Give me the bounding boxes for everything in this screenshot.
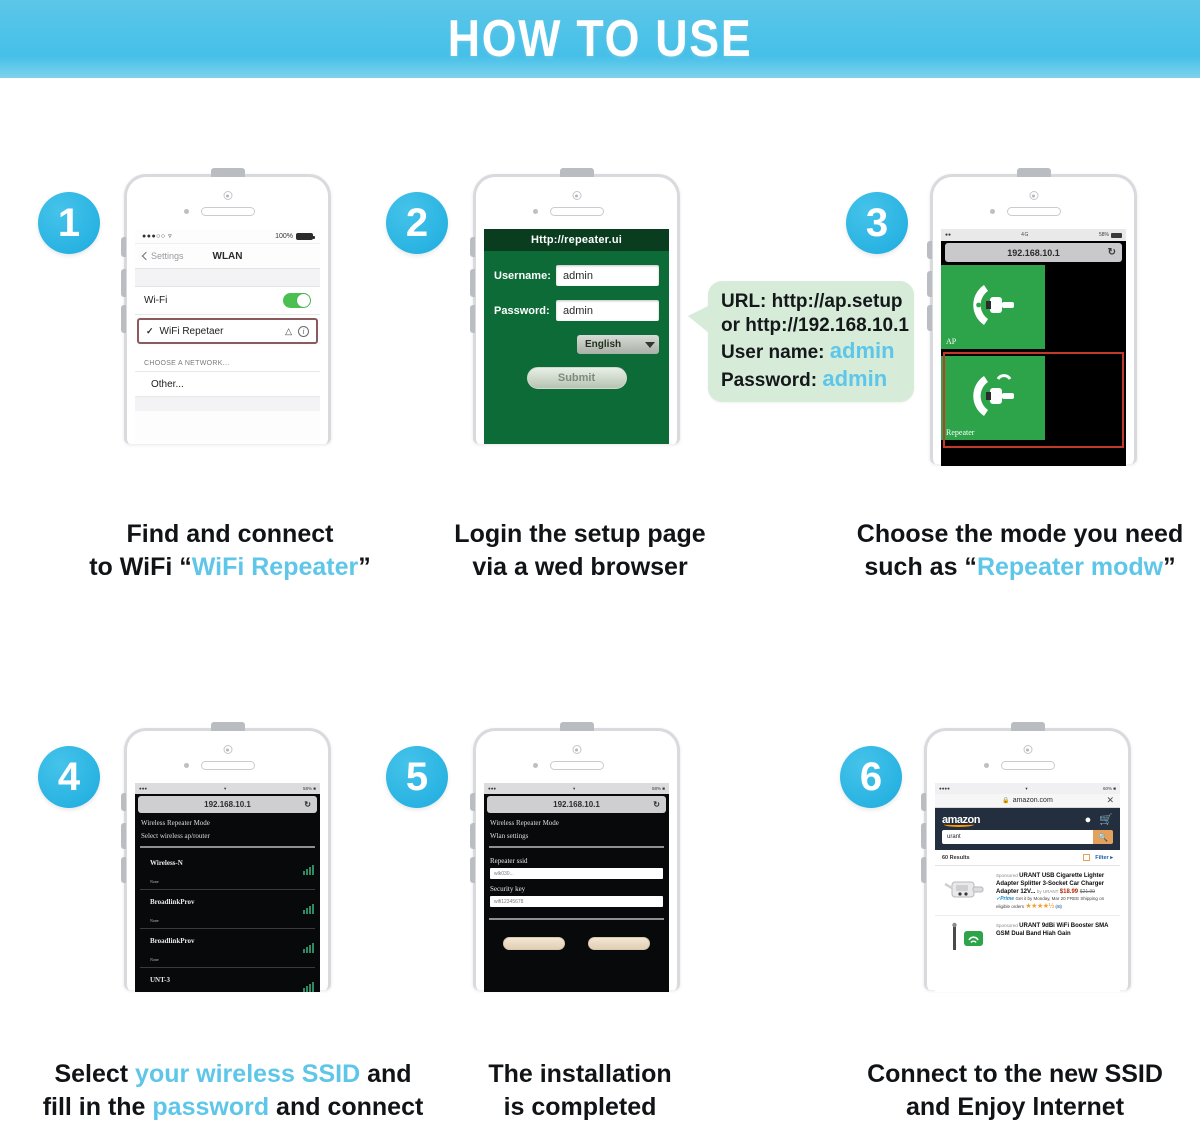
info-callout-bubble: URL: http://ap.setup or http://192.168.1… xyxy=(708,281,914,402)
caption-pre: such as “ xyxy=(864,553,977,581)
step-number-6: 6 xyxy=(860,755,882,800)
front-camera-icon xyxy=(1029,191,1038,200)
security-key-input[interactable]: wifi12345678 xyxy=(490,896,663,907)
list-footer-spacer xyxy=(135,397,320,411)
caption-pre-2: fill in the xyxy=(43,1093,153,1121)
phone-side-button xyxy=(927,241,932,259)
step-caption-4: Select your wireless SSID and fill in th… xyxy=(8,1058,458,1123)
caption-line-2: fill in the password and connect xyxy=(8,1091,458,1124)
product-list-item[interactable]: Sponsored URANT 9dBi WiFi Booster SMA GS… xyxy=(935,916,1120,957)
username-input[interactable]: admin xyxy=(556,265,659,286)
front-camera-icon xyxy=(223,745,232,754)
phone-side-button xyxy=(470,857,475,883)
callout-password-label: Password: xyxy=(721,370,822,391)
url-text: 192.168.10.1 xyxy=(553,800,600,809)
caption-post-2: and connect xyxy=(269,1093,423,1121)
browser-status-bar: ●● 4G 58% xyxy=(941,229,1126,241)
step-number-5: 5 xyxy=(406,755,428,800)
front-camera-icon xyxy=(572,745,581,754)
step-badge-1: 1 xyxy=(38,192,100,254)
other-label: Other... xyxy=(151,379,184,390)
amazon-logo[interactable]: amazon xyxy=(942,814,980,826)
step-number-2: 2 xyxy=(406,201,428,246)
network-list-item[interactable]: BroadlinkProvNone xyxy=(140,890,315,929)
phone-side-button xyxy=(121,793,126,811)
signal-dots-icon: ●●●○○ xyxy=(142,233,166,240)
cart-icon[interactable]: 🛒 xyxy=(1099,813,1113,826)
callout-password-value: admin xyxy=(822,366,887,391)
mode-label-ap: AP xyxy=(946,337,956,346)
phone-side-button xyxy=(121,305,126,333)
earpiece-speaker xyxy=(550,207,604,216)
battery-icon: 58% ■ xyxy=(652,786,665,791)
ios-status-bar: ●●●○○ ▿ 100% xyxy=(135,229,320,244)
phone-earpiece-area xyxy=(127,731,328,783)
username-label: Username: xyxy=(494,270,556,282)
step-caption-6: Connect to the new SSID and Enjoy lntern… xyxy=(830,1058,1200,1123)
product-thumbnail xyxy=(942,922,990,952)
security-key-label: Security key xyxy=(484,879,669,896)
list-spacer xyxy=(135,269,320,287)
sponsored-label: Sponsored xyxy=(996,923,1018,928)
page-heading: Wireless Repeater Mode xyxy=(135,815,320,829)
lock-icon: 🔒 xyxy=(1002,797,1009,804)
callout-username: User name: admin xyxy=(721,337,901,365)
network-security: None xyxy=(150,957,159,962)
browser-url-bar[interactable]: 192.168.10.1 ↻ xyxy=(138,796,317,813)
phone-mockup-6: ●●●● ▾ 60% ■ 🔒 amazon.com ✕ amazon ● 🛒 xyxy=(924,728,1131,990)
battery-icon xyxy=(296,233,313,240)
caption-line-1: Choose the mode you need xyxy=(840,518,1200,551)
login-form: Username: admin Password: admin English xyxy=(484,251,669,397)
phone-screen-4: ●●● ▾ 58% ■ 192.168.10.1 ↻ Wireless Repe… xyxy=(135,783,320,992)
ap-antenna-icon xyxy=(964,279,1022,331)
username-row: Username: admin xyxy=(494,265,659,286)
phone-side-button xyxy=(121,823,126,849)
product-list-item[interactable]: Sponsored URANT USB Cigarette Lighter Ad… xyxy=(935,866,1120,916)
step-number-1: 1 xyxy=(58,201,80,246)
delivery-estimate: Get it by Monday, Mar 20 xyxy=(1015,896,1065,901)
phone-side-button xyxy=(921,793,926,811)
password-input[interactable]: admin xyxy=(556,300,659,321)
carrier-dots-icon: ●● xyxy=(945,232,951,238)
callout-username-label: User name: xyxy=(721,342,830,363)
caption-line-2: such as “Repeater modw” xyxy=(840,551,1200,584)
price-current: $18.99 xyxy=(1060,889,1078,895)
callout-password: Password: admin xyxy=(721,365,901,393)
mode-highlight-box xyxy=(943,352,1124,448)
step-badge-2: 2 xyxy=(386,192,448,254)
phone-earpiece-area xyxy=(927,731,1128,783)
divider xyxy=(140,846,315,848)
page-heading: Wireless Repeater Mode xyxy=(484,815,669,829)
phone-side-button xyxy=(470,269,475,297)
sensor-dot-icon xyxy=(184,763,189,768)
caption-line-1: Find and connect xyxy=(20,518,440,551)
network-ssid-label: WiFi Repetaer xyxy=(160,326,224,337)
price-old: $21.99 xyxy=(1080,889,1095,895)
repeater-ssid-input[interactable]: wlk030... xyxy=(490,868,663,879)
phone-nub xyxy=(1011,722,1045,731)
step-number-4: 4 xyxy=(58,755,80,800)
product-title-line2: GSM Dual Band Hiah Gain xyxy=(996,931,1071,937)
step-caption-2: Login the setup page via a wed browser xyxy=(420,518,740,583)
phone-earpiece-area xyxy=(933,177,1134,229)
earpiece-speaker xyxy=(201,207,255,216)
browser-url-bar[interactable]: 🔒 amazon.com ✕ xyxy=(935,794,1120,808)
caption-line-1: Connect to the new SSID xyxy=(830,1058,1200,1091)
earpiece-speaker xyxy=(1001,761,1055,770)
step-number-3: 3 xyxy=(866,201,888,246)
network-type-label: ▾ xyxy=(573,786,575,792)
ios-nav-bar: Settings WLAN xyxy=(135,244,320,269)
caption-pre: to WiFi “ xyxy=(89,553,192,581)
rating-stars: ★★★★½ (46) xyxy=(1025,903,1061,910)
caption-line-1: The installation xyxy=(440,1058,720,1091)
step-badge-4: 4 xyxy=(38,746,100,808)
earpiece-speaker xyxy=(201,761,255,770)
caption-line-2: via a wed browser xyxy=(420,551,740,584)
battery-icon xyxy=(1111,233,1122,238)
network-item-selected[interactable]: ✓ WiFi Repetaer △ i xyxy=(137,318,318,344)
wifi-toggle-switch[interactable] xyxy=(283,293,311,308)
phone-screen-6: ●●●● ▾ 60% ■ 🔒 amazon.com ✕ amazon ● 🛒 xyxy=(935,783,1120,992)
cancel-button[interactable] xyxy=(588,937,650,950)
sponsored-label: Sponsored xyxy=(996,873,1018,878)
network-list-item[interactable]: BroadlinkProvNone xyxy=(140,929,315,968)
browser-url-bar[interactable]: 192.168.10.1 ↻ xyxy=(487,796,666,813)
page-title: HOW TO USE xyxy=(448,9,753,69)
network-ssid: BroadlinkProv xyxy=(150,898,194,906)
sensor-dot-icon xyxy=(533,209,538,214)
phone-side-button xyxy=(470,237,475,257)
step-badge-5: 5 xyxy=(386,746,448,808)
repeater-network-list-page: ●●● ▾ 58% ■ 192.168.10.1 ↻ Wireless Repe… xyxy=(135,783,320,992)
sensor-dot-icon xyxy=(990,209,995,214)
network-security: None xyxy=(150,918,159,923)
caption-line-2: is completed xyxy=(440,1091,720,1124)
signal-bars-icon xyxy=(303,865,315,875)
repeater-login-page: Http://repeater.ui Username: admin Passw… xyxy=(484,229,669,444)
phone-side-button xyxy=(121,269,126,297)
signal-bars-icon xyxy=(303,943,315,953)
page-header: HOW TO USE xyxy=(0,0,1200,78)
signal-bars-icon xyxy=(303,904,315,914)
front-camera-icon xyxy=(572,191,581,200)
network-list-item[interactable]: UNT-3WPA-PSK/WPA2-PSK xyxy=(140,968,315,992)
front-camera-icon xyxy=(1023,745,1032,754)
caption-highlight-2: password xyxy=(152,1093,269,1121)
network-type-label: ▾ xyxy=(224,786,226,792)
phone-screen-3: ●● 4G 58% 192.168.10.1 ↻ xyxy=(941,229,1126,466)
caption-highlight: Repeater modw xyxy=(977,553,1163,581)
network-security: None xyxy=(150,879,159,884)
review-count[interactable]: (46) xyxy=(1055,904,1061,909)
step-badge-3: 3 xyxy=(846,192,908,254)
network-list-item[interactable]: Wireless-NNone xyxy=(140,851,315,890)
product-thumbnail xyxy=(942,872,990,910)
phone-side-button xyxy=(121,237,126,257)
page-subheading: Select wireless ap/router xyxy=(135,829,320,844)
results-count: 60 Results xyxy=(942,855,970,861)
repeater-wlan-settings-page: ●●● ▾ 58% ■ 192.168.10.1 ↻ Wireless Repe… xyxy=(484,783,669,992)
results-bar: 60 Results Filter ▸ xyxy=(935,850,1120,866)
earpiece-speaker xyxy=(550,761,604,770)
phone-screen-1: ●●●○○ ▿ 100% Settings WLAN Wi-Fi xyxy=(135,229,320,444)
phone-mockup-4: ●●● ▾ 58% ■ 192.168.10.1 ↻ Wireless Repe… xyxy=(124,728,331,990)
stars-glyphs: ★★★★½ xyxy=(1025,903,1053,910)
filter-button[interactable]: Filter ▸ xyxy=(1095,855,1113,861)
browser-mode-select: ●● 4G 58% 192.168.10.1 ↻ xyxy=(941,229,1126,466)
phone-mockup-5: ●●● ▾ 58% ■ 192.168.10.1 ↻ Wireless Repe… xyxy=(473,728,680,990)
sensor-dot-icon xyxy=(533,763,538,768)
close-icon[interactable]: ✕ xyxy=(1106,795,1114,806)
wifi-row-label: Wi-Fi xyxy=(144,295,167,306)
account-icon[interactable]: ● xyxy=(1085,814,1092,826)
front-camera-icon xyxy=(223,191,232,200)
amazon-search-row: urant 🔍 xyxy=(935,830,1120,850)
phone-nub xyxy=(1017,168,1051,177)
phone-nub xyxy=(560,722,594,731)
checkmark-icon: ✓ xyxy=(146,326,154,337)
car-charger-icon xyxy=(944,874,988,908)
earpiece-speaker xyxy=(1007,207,1061,216)
step-caption-5: The installation is completed xyxy=(440,1058,720,1123)
form-actions xyxy=(484,923,669,950)
product-title[interactable]: URANT 9dBi WiFi Booster SMA xyxy=(1019,923,1108,929)
caption-post: ” xyxy=(358,553,371,581)
page-subheading: Wlan settings xyxy=(484,829,669,844)
wifi-icon: ▿ xyxy=(168,233,172,240)
network-type-label: 4G xyxy=(1021,232,1029,238)
wifi-signal-icon: △ xyxy=(285,326,292,337)
divider-bottom xyxy=(489,918,664,920)
section-header-choose-network: CHOOSE A NETWORK... xyxy=(135,347,320,371)
mode-tile-ap[interactable]: AP xyxy=(941,265,1045,349)
screen-title: WLAN xyxy=(135,251,320,262)
network-ssid: Wireless-N xyxy=(150,859,183,867)
step-caption-1: Find and connect to WiFi “WiFi Repeater” xyxy=(20,518,440,583)
callout-url-primary: URL: http://ap.setup xyxy=(721,290,901,314)
phone-mockup-1: ●●●○○ ▿ 100% Settings WLAN Wi-Fi xyxy=(124,174,331,444)
signal-bars-icon xyxy=(303,982,315,992)
sensor-dot-icon xyxy=(984,763,989,768)
phone-earpiece-area xyxy=(476,731,677,783)
browser-url-bar[interactable]: 192.168.10.1 ↻ xyxy=(945,243,1122,262)
carrier-dots-icon: ●●● xyxy=(139,786,147,791)
submit-button[interactable]: Submit xyxy=(527,367,627,389)
repeater-ssid-label: Repeater ssid xyxy=(484,851,669,868)
phone-mockup-2: Http://repeater.ui Username: admin Passw… xyxy=(473,174,680,444)
apply-button[interactable] xyxy=(503,937,565,950)
phone-nub xyxy=(211,722,245,731)
phone-nub xyxy=(211,168,245,177)
step-badge-6: 6 xyxy=(840,746,902,808)
amazon-search-results: ●●●● ▾ 60% ■ 🔒 amazon.com ✕ amazon ● 🛒 xyxy=(935,783,1120,992)
carrier-dots-icon: ●●●● xyxy=(939,786,950,791)
carrier-dots-icon: ●●● xyxy=(488,786,496,791)
divider-top xyxy=(489,846,664,848)
steps-grid: 1 ●●●○○ ▿ 100% xyxy=(0,78,1200,1132)
phone-earpiece-area xyxy=(127,177,328,229)
password-row: Password: admin xyxy=(494,300,659,321)
phone-side-button xyxy=(470,793,475,811)
browser-status-bar: ●●● ▾ 58% ■ xyxy=(484,783,669,794)
refresh-icon[interactable]: ↻ xyxy=(1108,247,1116,258)
caption-highlight: your wireless SSID xyxy=(135,1060,360,1088)
search-icon[interactable]: 🔍 xyxy=(1093,830,1113,844)
url-text: 192.168.10.1 xyxy=(1007,248,1060,258)
amazon-header: amazon ● 🛒 xyxy=(935,808,1120,830)
caption-line-2: and Enjoy lnternet xyxy=(830,1091,1200,1124)
step-caption-3: Choose the mode you need such as “Repeat… xyxy=(840,518,1200,583)
caption-highlight: WiFi Repeater xyxy=(192,553,358,581)
url-text: amazon.com xyxy=(1013,797,1053,804)
ios-wlan-settings: ●●●○○ ▿ 100% Settings WLAN Wi-Fi xyxy=(135,229,320,444)
language-select[interactable]: English xyxy=(577,335,659,354)
callout-url-secondary: or http://192.168.10.1 xyxy=(721,314,901,338)
info-icon[interactable]: i xyxy=(298,326,309,337)
search-input[interactable]: urant xyxy=(942,830,1093,844)
phone-side-button xyxy=(921,823,926,849)
caption-line-1: Login the setup page xyxy=(420,518,740,551)
phone-earpiece-area xyxy=(476,177,677,229)
network-list: Wireless-NNone BroadlinkProvNone Broadli… xyxy=(135,851,320,992)
ios-status-bar: ●●●● ▾ 60% ■ xyxy=(935,783,1120,794)
wifi-antenna-icon xyxy=(944,922,988,952)
phone-side-button xyxy=(121,857,126,883)
sensor-dot-icon xyxy=(184,209,189,214)
phone-side-button xyxy=(927,305,932,331)
password-label: Password: xyxy=(494,305,556,317)
browser-status-bar: ●●● ▾ 58% ■ xyxy=(135,783,320,794)
refresh-icon[interactable]: ↻ xyxy=(304,800,311,809)
phone-mockup-3: ●● 4G 58% 192.168.10.1 ↻ xyxy=(930,174,1137,464)
phone-nub xyxy=(560,168,594,177)
language-value: English xyxy=(585,339,621,350)
phone-side-button xyxy=(470,305,475,333)
url-text: 192.168.10.1 xyxy=(204,800,251,809)
callout-username-value: admin xyxy=(830,338,895,363)
refresh-icon[interactable]: ↻ xyxy=(653,800,660,809)
chevron-down-icon xyxy=(645,342,655,348)
submit-row: Submit xyxy=(494,367,659,389)
battery-percent: 100% xyxy=(275,233,293,240)
selected-network-wrap: ✓ WiFi Repetaer △ i xyxy=(135,315,320,347)
phone-side-button xyxy=(927,271,932,297)
phone-screen-5: ●●● ▾ 58% ■ 192.168.10.1 ↻ Wireless Repe… xyxy=(484,783,669,992)
caption-line-2: to WiFi “WiFi Repeater” xyxy=(20,551,440,584)
wifi-icon: ▾ xyxy=(1025,786,1027,792)
caption-pre: Select xyxy=(54,1060,135,1088)
wifi-toggle-row[interactable]: Wi-Fi xyxy=(135,287,320,315)
phone-side-button xyxy=(470,823,475,849)
battery-icon: 58% ■ xyxy=(303,786,316,791)
grid-view-icon[interactable] xyxy=(1083,854,1090,861)
caption-post: and xyxy=(360,1060,411,1088)
product-brand: by URANT xyxy=(1037,889,1059,894)
battery-percent: 58% xyxy=(1099,232,1109,238)
network-item-other[interactable]: Other... xyxy=(135,371,320,397)
login-title-bar: Http://repeater.ui xyxy=(484,229,669,251)
phone-screen-2: Http://repeater.ui Username: admin Passw… xyxy=(484,229,669,444)
caption-line-1: Select your wireless SSID and xyxy=(8,1058,458,1091)
prime-badge: ✓Prime xyxy=(996,896,1014,902)
caption-post: ” xyxy=(1163,553,1176,581)
battery-icon: 60% ■ xyxy=(1103,786,1116,791)
network-ssid: UNT-3 xyxy=(150,976,170,984)
network-ssid: BroadlinkProv xyxy=(150,937,194,945)
phone-side-button xyxy=(921,857,926,883)
language-row: English xyxy=(494,335,659,354)
